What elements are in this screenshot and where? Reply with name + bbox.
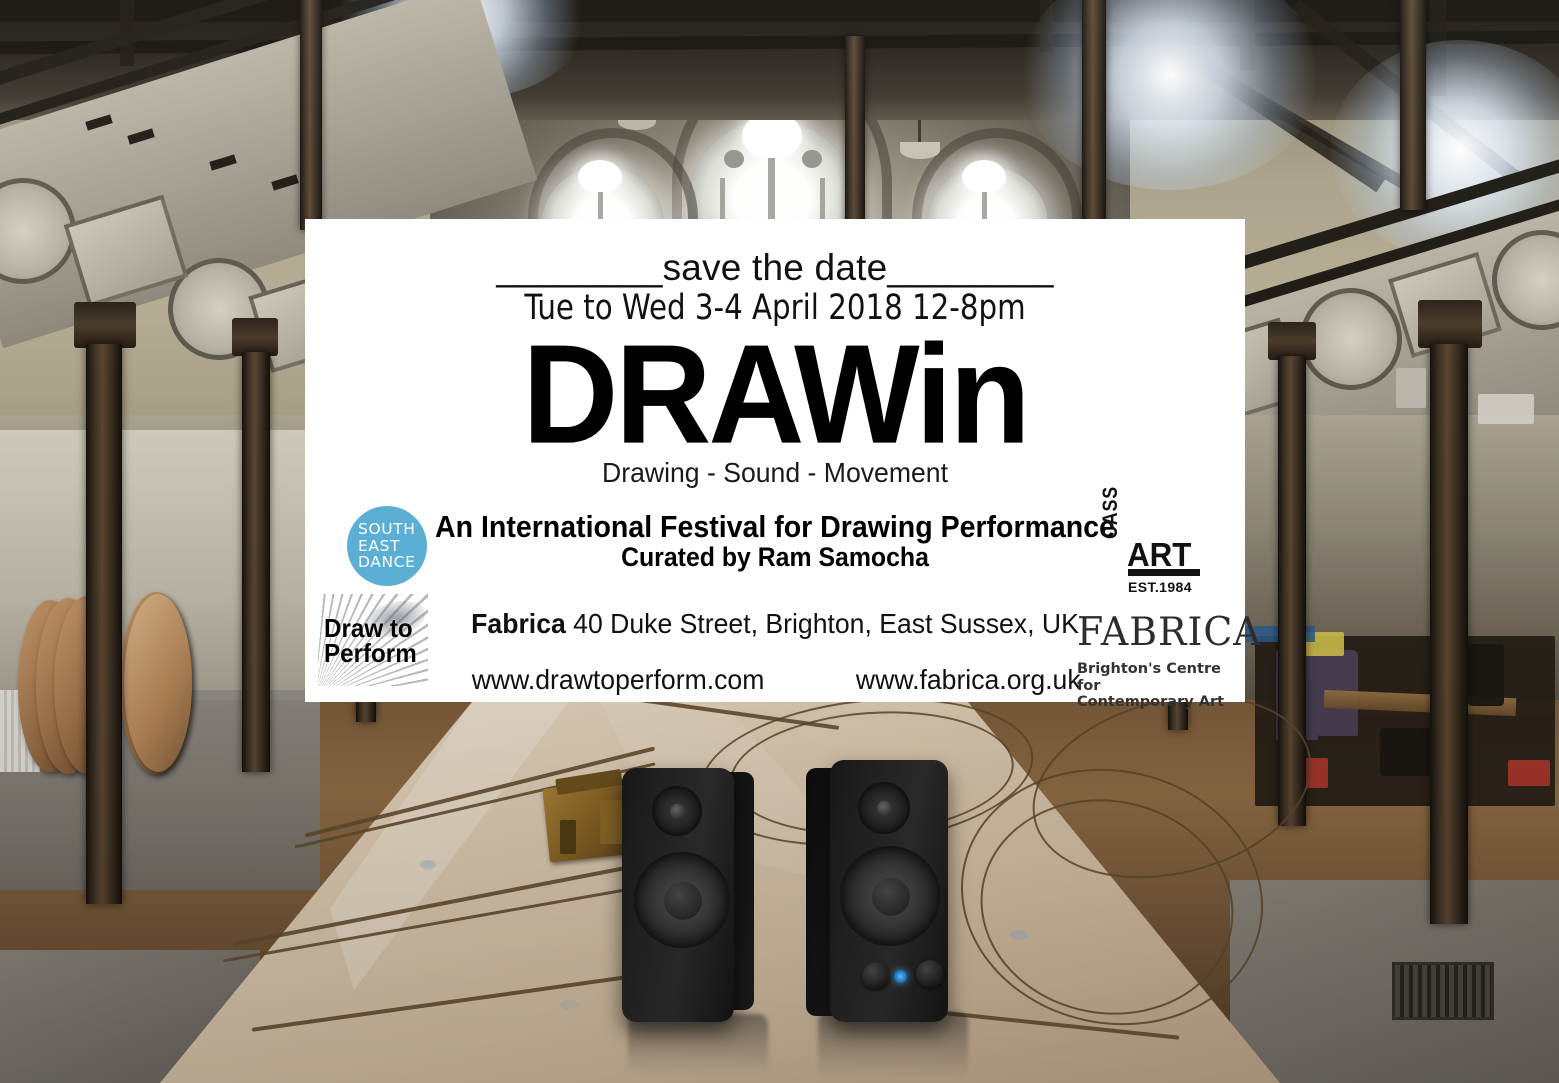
sed-line-3: DANCE [358, 554, 427, 571]
dtp-wordmark: Draw to Perform [324, 616, 417, 666]
dtp-line-2: Perform [324, 641, 417, 666]
logo-fabrica[interactable]: FABRICA Brighton's Centre for Contempora… [1077, 613, 1227, 711]
fabrica-wordmark: FABRICA [1077, 613, 1223, 652]
fabrica-tagline: Brighton's Centre for Contemporary Art [1077, 661, 1227, 711]
logo-south-east-dance[interactable]: SOUTH EAST DANCE [347, 506, 427, 586]
sed-line-1: SOUTH [358, 521, 427, 538]
poster-root: ________save the date________ Tue to Wed… [0, 0, 1559, 1083]
sed-line-2: EAST [358, 538, 427, 555]
poster-subtitle: Drawing - Sound - Movement [329, 459, 1222, 487]
festival-description: An International Festival for Drawing Pe… [343, 509, 1208, 546]
link-fabrica[interactable]: www.fabrica.org.uk [856, 664, 1081, 696]
save-the-date-line: ________save the date________ [305, 249, 1245, 286]
cass-established: EST.1984 [1128, 579, 1192, 595]
logo-draw-to-perform[interactable]: Draw to Perform [318, 594, 428, 686]
cass-rotated-word: CASS [1099, 486, 1123, 539]
link-drawtoperform[interactable]: www.drawtoperform.com [471, 664, 764, 696]
fabrica-tagline-1: Brighton's Centre for [1077, 661, 1227, 694]
page-title: DRAWin [305, 325, 1245, 466]
cass-rule [1128, 569, 1200, 576]
venue-address: 40 Duke Street, Brighton, East Sussex, U… [566, 608, 1079, 639]
logo-cass-art[interactable]: CASS ART EST.1984 [1099, 539, 1203, 597]
poster-info-card: ________save the date________ Tue to Wed… [305, 219, 1245, 702]
venue-name: Fabrica [471, 608, 566, 639]
curator-credit: Curated by Ram Samocha [343, 544, 1208, 571]
fabrica-tagline-2: Contemporary Art [1077, 694, 1227, 711]
